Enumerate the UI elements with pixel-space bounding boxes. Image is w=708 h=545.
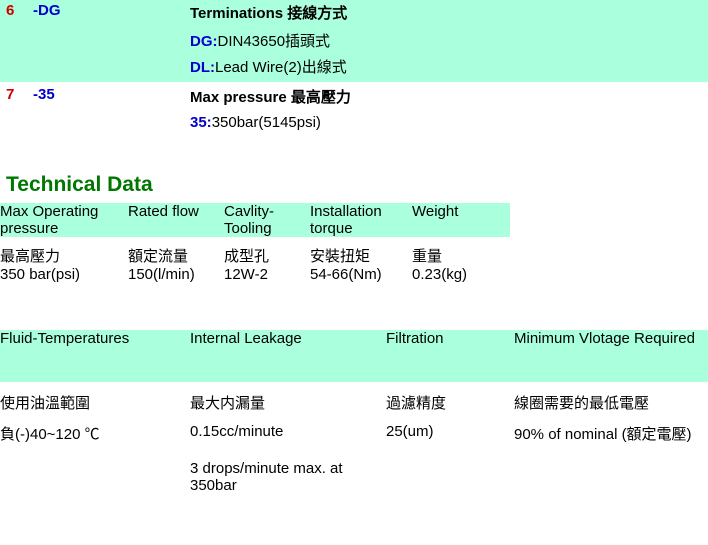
cell-text: 12W-2 (224, 266, 268, 283)
table-cell: 12W-2 (224, 266, 310, 283)
option-sub-line: DL:Lead Wire(2)出線式 (190, 56, 347, 77)
table-cell: 重量 (412, 237, 510, 266)
table-cell: 25(um) (386, 413, 514, 444)
option-row-7: 7 -35 Max pressure 最高壓力 35:350bar(5145ps… (0, 86, 708, 110)
table-cell: 使用油溫範圍 (0, 382, 190, 413)
table-cell: 350 bar(psi) (0, 266, 128, 283)
table-cell: 安裝扭矩 (310, 237, 412, 266)
table-header-cell: Cavlity-Tooling (224, 203, 310, 237)
table-cell (0, 444, 190, 494)
table-cell: 54-66(Nm) (310, 266, 412, 283)
table-cell: 過濾精度 (386, 382, 514, 413)
document-page: 6 -DG Terminations 接線方式 DG:DIN43650插頭式 D… (0, 0, 708, 545)
table-header-cell: Filtration (386, 330, 514, 382)
cell-text: 重量 (412, 248, 442, 265)
table-cell: 線圈需要的最低電壓 (514, 382, 708, 413)
table-cell: 3 drops/minute max. at 350bar (190, 444, 386, 494)
header-text: Weight (412, 203, 458, 220)
option-number: 6 (6, 2, 14, 19)
header-text: Filtration (386, 330, 444, 347)
cell-text: 成型孔 (224, 248, 269, 265)
header-text: Cavlity-Tooling (224, 203, 274, 237)
cell-text: 0.23(kg) (412, 266, 467, 283)
cell-text: 3 drops/minute max. at 350bar (190, 460, 343, 494)
header-text: Minimum Vlotage Required (514, 330, 695, 347)
option-description: Max pressure 最高壓力 (190, 86, 351, 107)
option-code: -35 (33, 86, 55, 103)
cell-text: 線圈需要的最低電壓 (514, 395, 649, 412)
table-row: 3 drops/minute max. at 350bar (0, 444, 708, 494)
table-cell: 90% of nominal (額定電壓) (514, 413, 708, 444)
option-sub-line: DG:DIN43650插頭式 (190, 30, 330, 51)
table-row: 350 bar(psi) 150(l/min) 12W-2 54-66(Nm) … (0, 266, 510, 283)
table-header-cell: Weight (412, 203, 510, 237)
cell-text: 90% of nominal (額定電壓) (514, 426, 692, 443)
table-cell: 0.23(kg) (412, 266, 510, 283)
table-cell: 最高壓力 (0, 237, 128, 266)
option-sub-line: 35:350bar(5145psi) (190, 114, 321, 131)
option-sub-key: DG: (190, 33, 218, 50)
table-cell: 額定流量 (128, 237, 224, 266)
table-cell: 負(-)40~120 ℃ (0, 413, 190, 444)
table-cell (386, 444, 514, 494)
cell-text: 54-66(Nm) (310, 266, 382, 283)
header-text: Max Operating pressure (0, 203, 98, 237)
table-row: 使用油溫範圍 最大内漏量 過濾精度 線圈需要的最低電壓 (0, 382, 708, 413)
cell-text: 25(um) (386, 423, 434, 440)
option-sub-key: DL: (190, 59, 215, 76)
table-header-cell: Internal Leakage (190, 330, 386, 382)
cell-text: 過濾精度 (386, 395, 446, 412)
cell-text: 負(-)40~120 ℃ (0, 426, 100, 443)
table-header-cell: Fluid-Temperatures (0, 330, 190, 382)
option-sub-text: DIN43650插頭式 (218, 33, 331, 50)
table-cell: 0.15cc/minute (190, 413, 386, 444)
cell-text: 安裝扭矩 (310, 248, 370, 265)
cell-text: 額定流量 (128, 248, 188, 265)
option-sub-key: 35: (190, 114, 212, 131)
cell-text: 350 bar(psi) (0, 266, 80, 283)
option-code: -DG (33, 2, 61, 19)
table-header-cell: Installation torque (310, 203, 412, 237)
technical-data-heading: Technical Data (6, 173, 153, 197)
option-description: Terminations 接線方式 (190, 2, 347, 23)
option-row-6: 6 -DG Terminations 接線方式 DG:DIN43650插頭式 D… (0, 2, 708, 26)
header-text: Rated flow (128, 203, 199, 220)
technical-data-table-secondary: Fluid-Temperatures Internal Leakage Filt… (0, 330, 708, 494)
option-sub-text: Lead Wire(2)出線式 (215, 59, 347, 76)
header-text: Internal Leakage (190, 330, 302, 347)
table-header-cell: Max Operating pressure (0, 203, 128, 237)
option-number: 7 (6, 86, 14, 103)
cell-text: 最高壓力 (0, 248, 60, 265)
table-cell: 150(l/min) (128, 266, 224, 283)
cell-text: 150(l/min) (128, 266, 195, 283)
table-header-row: Max Operating pressure Rated flow Cavlit… (0, 203, 510, 237)
header-text: Fluid-Temperatures (0, 330, 129, 347)
table-cell: 最大内漏量 (190, 382, 386, 413)
table-cell: 成型孔 (224, 237, 310, 266)
table-header-cell: Minimum Vlotage Required (514, 330, 708, 382)
option-sub-text: 350bar(5145psi) (212, 114, 321, 131)
table-header-row: Fluid-Temperatures Internal Leakage Filt… (0, 330, 708, 382)
table-cell (514, 444, 708, 494)
header-text: Installation torque (310, 203, 382, 237)
table-row: 負(-)40~120 ℃ 0.15cc/minute 25(um) 90% of… (0, 413, 708, 444)
cell-text: 使用油溫範圍 (0, 395, 90, 412)
cell-text: 最大内漏量 (190, 395, 265, 412)
table-row: 最高壓力 額定流量 成型孔 安裝扭矩 重量 (0, 237, 510, 266)
technical-data-table-primary: Max Operating pressure Rated flow Cavlit… (0, 203, 510, 283)
table-header-cell: Rated flow (128, 203, 224, 237)
cell-text: 0.15cc/minute (190, 423, 283, 440)
